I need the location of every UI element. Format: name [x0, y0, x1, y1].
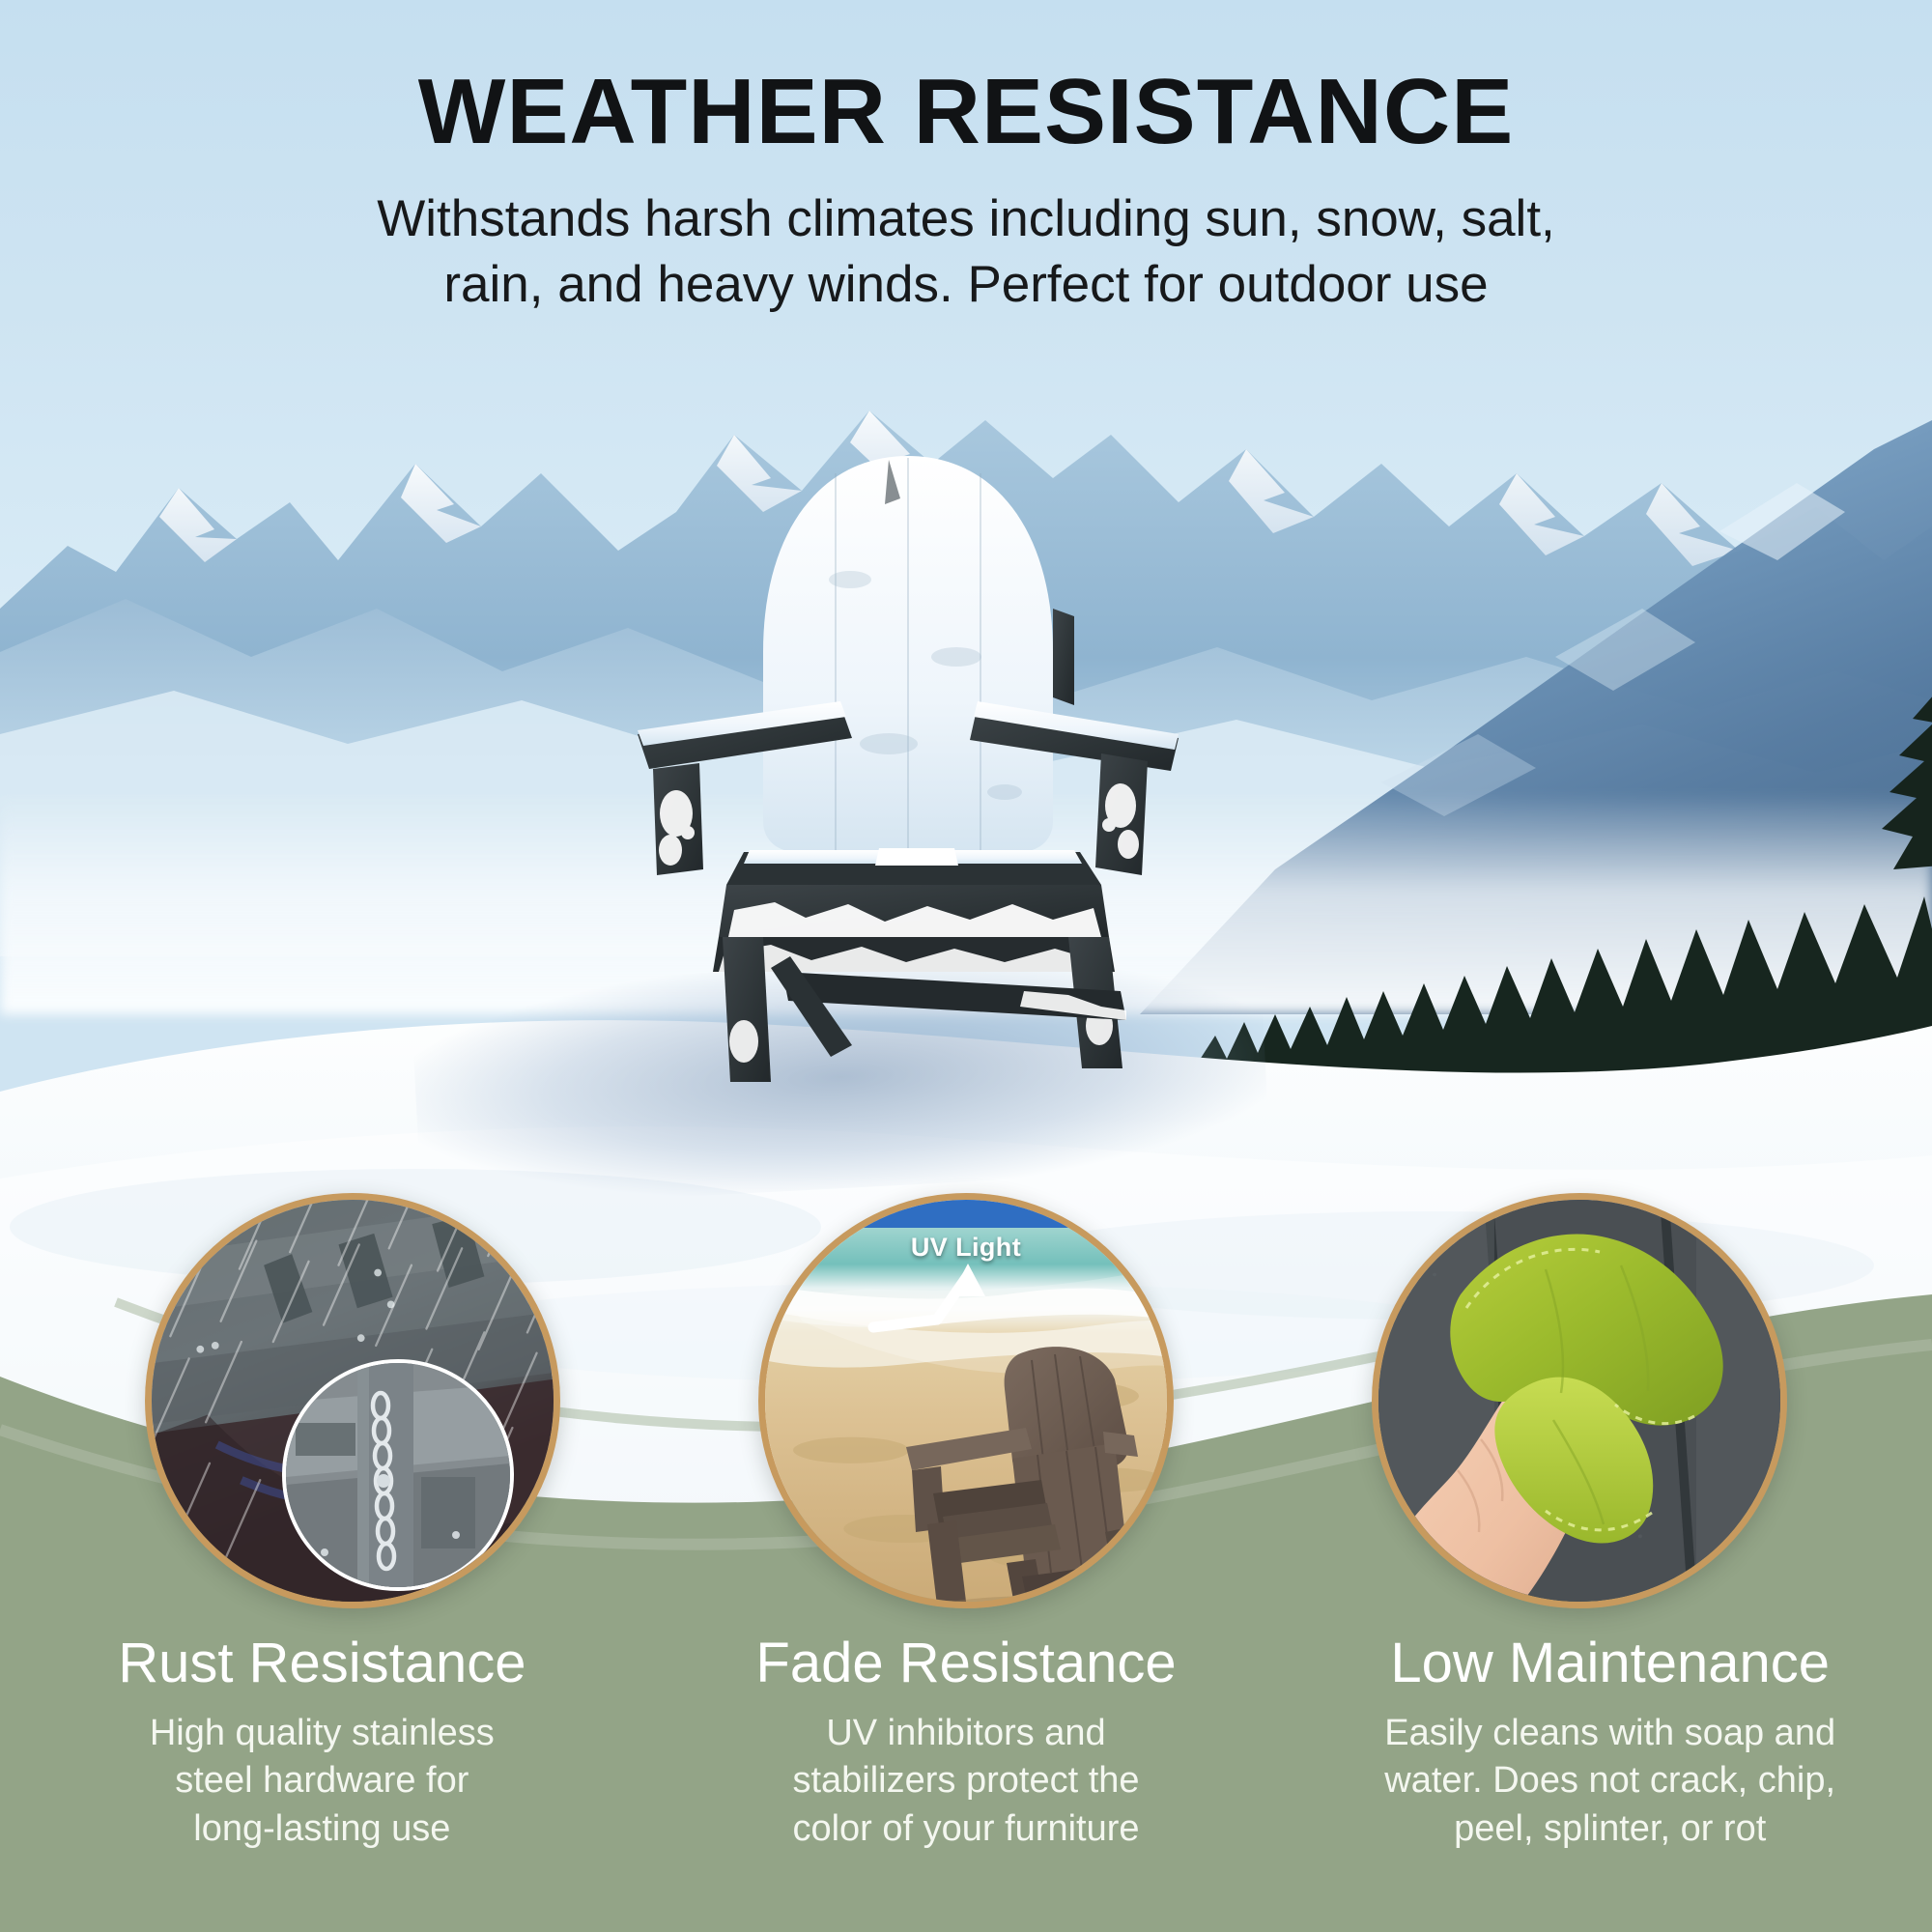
maint-body-line-3: peel, splinter, or rot	[1454, 1808, 1766, 1849]
uv-light-label: UV Light	[765, 1233, 1167, 1263]
maint-body-line-2: water. Does not crack, chip,	[1384, 1760, 1835, 1801]
infographic-canvas: WEATHER RESISTANCE Withstands harsh clim…	[0, 0, 1932, 1932]
subtitle-line-2: rain, and heavy winds. Perfect for outdo…	[443, 256, 1488, 313]
feature-title-low-maintenance: Low Maintenance	[1322, 1633, 1897, 1694]
feature-body-low-maintenance: Easily cleans with soap and water. Does …	[1322, 1710, 1897, 1853]
fade-body-line-3: color of your furniture	[792, 1808, 1139, 1849]
feature-caption-rust-resistance: Rust Resistance High quality stainless s…	[0, 1633, 644, 1932]
fade-body-line-1: UV inhibitors and	[826, 1713, 1105, 1753]
feature-image-rust-resistance	[145, 1193, 560, 1608]
feature-image-fade-resistance: UV Light	[758, 1193, 1174, 1608]
page-title: WEATHER RESISTANCE	[0, 64, 1932, 161]
feature-body-fade-resistance: UV inhibitors and stabilizers protect th…	[679, 1710, 1254, 1853]
uv-light-arrow	[862, 1260, 1045, 1347]
page-subtitle: Withstands harsh climates including sun,…	[280, 186, 1652, 318]
hero-snow-covered-chair	[599, 415, 1217, 1092]
feature-image-low-maintenance	[1372, 1193, 1787, 1608]
header-block: WEATHER RESISTANCE Withstands harsh clim…	[0, 64, 1932, 317]
brown-adirondack-chair	[900, 1335, 1174, 1608]
stainless-chain-inset	[282, 1359, 514, 1591]
rust-body-line-1: High quality stainless	[150, 1713, 495, 1753]
rust-body-line-3: long-lasting use	[193, 1808, 450, 1849]
maint-body-line-1: Easily cleans with soap and	[1384, 1713, 1835, 1753]
foreground-pine-branch	[1768, 676, 1932, 927]
feature-title-fade-resistance: Fade Resistance	[679, 1633, 1254, 1694]
feature-caption-low-maintenance: Low Maintenance Easily cleans with soap …	[1288, 1633, 1932, 1932]
rust-body-line-2: steel hardware for	[175, 1760, 469, 1801]
feature-captions: Rust Resistance High quality stainless s…	[0, 1633, 1932, 1932]
fade-body-line-2: stabilizers protect the	[792, 1760, 1139, 1801]
feature-circle-row: UV Light	[0, 1193, 1932, 1637]
subtitle-line-1: Withstands harsh climates including sun,…	[377, 190, 1555, 247]
microfiber-cloth	[1432, 1227, 1750, 1546]
feature-title-rust-resistance: Rust Resistance	[35, 1633, 610, 1694]
feature-body-rust-resistance: High quality stainless steel hardware fo…	[35, 1710, 610, 1853]
feature-caption-fade-resistance: Fade Resistance UV inhibitors and stabil…	[644, 1633, 1289, 1932]
